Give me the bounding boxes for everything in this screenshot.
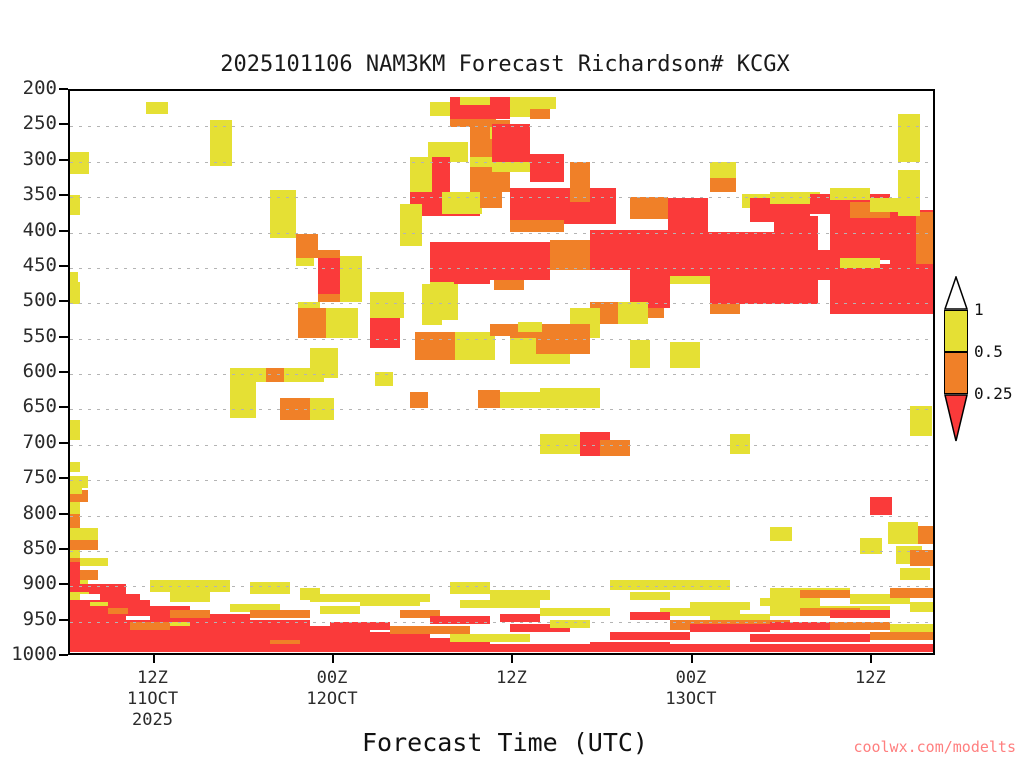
heatmap-cell [430, 102, 450, 116]
heatmap-cell [80, 558, 108, 566]
y-axis-tick-label: 350 [0, 183, 57, 205]
heatmap-cell [510, 338, 536, 360]
colorbar-tick-label: 0.5 [974, 342, 1003, 361]
y-axis-tick-label: 500 [0, 289, 57, 311]
x-axis-tick-label: 12Z 11OCT 2025 [108, 668, 198, 731]
colorbar-tick-label: 0.25 [974, 384, 1013, 403]
heatmap-cell [415, 332, 455, 360]
heatmap-cell [370, 318, 400, 348]
heatmap-cell [918, 526, 935, 544]
watermark-link[interactable]: coolwx.com/modelts [853, 738, 1016, 756]
heatmap-cell [270, 632, 350, 640]
heatmap-cell [310, 348, 338, 378]
heatmap-cell [898, 114, 920, 162]
heatmap-cell [370, 292, 404, 318]
heatmap-cell [570, 162, 590, 202]
y-axis-tick [59, 300, 68, 302]
colorbar-tick-label: 1 [974, 300, 984, 319]
y-axis-tick [59, 88, 68, 90]
heatmap-cell [860, 538, 882, 554]
heatmap-cell [890, 212, 916, 268]
heatmap-cell [590, 230, 670, 270]
heatmap-cell [710, 178, 736, 192]
y-axis-tick-label: 550 [0, 325, 57, 347]
heatmap-cell [70, 195, 80, 215]
heatmap-cell [70, 272, 78, 292]
heatmap-cell [510, 97, 530, 117]
y-axis-tick-label: 450 [0, 254, 57, 276]
heatmap-cell [800, 590, 850, 598]
heatmap-cell [70, 462, 80, 472]
heatmap-cell [320, 606, 360, 614]
heatmap-cell [910, 602, 935, 612]
x-axis-ticks [68, 655, 935, 665]
heatmap-cell [916, 212, 935, 266]
heatmap-cell [318, 294, 340, 302]
y-axis-tick [59, 123, 68, 125]
colorbar-labels: 10.50.25 [944, 310, 1024, 470]
heatmap-cells [70, 91, 933, 653]
y-axis-tick [59, 194, 68, 196]
heatmap-cell [470, 157, 492, 167]
heatmap-cell [630, 592, 670, 600]
y-axis-tick-label: 1000 [0, 643, 57, 665]
heatmap-cell [270, 190, 296, 238]
heatmap-cell [432, 157, 450, 193]
heatmap-cell [590, 642, 670, 648]
heatmap-cell [890, 588, 935, 598]
heatmap-cell [455, 332, 495, 360]
y-axis-tick-label: 750 [0, 466, 57, 488]
heatmap-cell [888, 522, 918, 544]
y-axis-tick [59, 406, 68, 408]
heatmap-cell [150, 580, 230, 592]
y-axis-tick [59, 371, 68, 373]
y-axis-tick-label: 900 [0, 572, 57, 594]
heatmap-cell [490, 324, 518, 336]
heatmap-cell [770, 527, 792, 541]
heatmap-cell [710, 304, 740, 314]
heatmap-cell [390, 626, 470, 634]
x-axis-tick [153, 655, 155, 663]
y-axis-ticks [59, 89, 69, 655]
y-axis-tick-label: 400 [0, 219, 57, 241]
heatmap-cell [630, 612, 670, 620]
heatmap-cell [70, 480, 82, 494]
heatmap-cell [670, 276, 714, 284]
y-axis-tick [59, 513, 68, 515]
heatmap-cell [230, 382, 256, 418]
y-axis-tick [59, 442, 68, 444]
heatmap-cell [70, 540, 98, 550]
heatmap-cell [296, 258, 314, 266]
heatmap-cell [550, 620, 590, 628]
y-axis-tick [59, 583, 68, 585]
heatmap-cell [146, 102, 168, 114]
heatmap-cell [298, 308, 326, 338]
heatmap-cell [530, 154, 564, 182]
heatmap-cell [630, 197, 668, 219]
heatmap-cell [750, 634, 870, 642]
heatmap-cell [530, 109, 550, 119]
y-axis-tick-label: 850 [0, 537, 57, 559]
y-axis-tick [59, 230, 68, 232]
heatmap-cell [690, 602, 750, 610]
heatmap-cell [80, 570, 98, 580]
heatmap-cell [900, 568, 930, 580]
y-axis-tick-label: 950 [0, 608, 57, 630]
x-axis-tick-label: 00Z 13OCT [646, 668, 736, 710]
y-axis-tick [59, 336, 68, 338]
heatmap-cell [70, 514, 80, 528]
heatmap-cell [450, 634, 530, 642]
heatmap-cell [850, 188, 870, 200]
heatmap-cell [492, 124, 530, 162]
colorbar-top-arrow [944, 276, 968, 310]
heatmap-cell [670, 342, 700, 368]
heatmap-cell [870, 632, 935, 640]
heatmap-cell [830, 622, 890, 630]
heatmap-cell [430, 616, 490, 624]
heatmap-cell [170, 610, 210, 618]
y-axis-tick-label: 800 [0, 502, 57, 524]
y-axis-tick [59, 619, 68, 621]
y-axis-tick-label: 650 [0, 395, 57, 417]
heatmap-cell [898, 170, 920, 216]
heatmap-cell [410, 157, 432, 197]
heatmap-cell [375, 372, 393, 386]
heatmap-cell [840, 258, 880, 268]
y-axis-tick [59, 548, 68, 550]
y-axis-tick [59, 477, 68, 479]
heatmap-cell [170, 592, 210, 602]
heatmap-cell [296, 234, 318, 258]
heatmap-cell [494, 280, 524, 290]
y-axis-tick [59, 654, 68, 656]
x-axis-tick [511, 655, 513, 663]
x-axis-tick [870, 655, 872, 663]
heatmap-cell [280, 398, 310, 420]
heatmap-cell [774, 216, 818, 250]
heatmap-cell [618, 302, 648, 324]
y-axis-tick-label: 700 [0, 431, 57, 453]
heatmap-cell [460, 97, 490, 105]
heatmap-cell [70, 644, 935, 652]
x-axis-tick-label: 00Z 12OCT [287, 668, 377, 710]
heatmap-cell [210, 624, 270, 632]
heatmap-cell [470, 242, 550, 280]
heatmap-cell [480, 188, 502, 208]
heatmap-cell [610, 580, 730, 590]
heatmap-cell [478, 390, 500, 408]
heatmap-cell [630, 340, 650, 368]
heatmap-cell [690, 624, 770, 632]
y-axis-tick-label: 600 [0, 360, 57, 382]
heatmap-cell [70, 528, 98, 540]
heatmap-cell [330, 622, 390, 630]
heatmap-cell [500, 392, 540, 408]
x-axis-tick [332, 655, 334, 663]
heatmap-cell [710, 264, 770, 304]
heatmap-cell [600, 440, 630, 456]
heatmap-cell [500, 614, 540, 622]
heatmap-cell [70, 502, 80, 514]
heatmap-cell [410, 392, 428, 408]
heatmap-cell [518, 322, 542, 332]
heatmap-cell [210, 120, 232, 166]
heatmap-cell [540, 608, 600, 616]
heatmap-cell [442, 192, 482, 214]
heatmap-cell [460, 600, 540, 608]
heatmap-cell [266, 368, 284, 382]
heatmap-cell [550, 240, 590, 270]
heatmap-cell [490, 590, 550, 600]
heatmap-cell [870, 497, 892, 515]
heatmap-cell [340, 256, 362, 302]
heatmap-cell [730, 434, 750, 454]
heatmap-cell [668, 198, 708, 232]
x-axis-tick [691, 655, 693, 663]
heatmap-cell [540, 388, 600, 408]
heatmap-cell [400, 204, 422, 246]
heatmap-cell [250, 582, 290, 594]
heatmap-cell [530, 97, 556, 109]
heatmap-cell [830, 610, 890, 618]
heatmap-cell [510, 220, 564, 232]
x-axis-tick-label: 12Z [466, 668, 556, 689]
heatmap-cell [422, 284, 458, 320]
heatmap-plot-area [68, 89, 935, 655]
heatmap-cell [318, 250, 340, 258]
heatmap-cell [130, 630, 190, 638]
heatmap-cell [910, 550, 935, 566]
heatmap-cell [326, 308, 358, 338]
heatmap-cell [70, 152, 89, 174]
y-axis-tick [59, 159, 68, 161]
heatmap-cell [760, 598, 820, 606]
heatmap-cell [310, 398, 334, 420]
heatmap-cell [610, 632, 690, 640]
heatmap-cell [70, 420, 80, 440]
heatmap-cell [492, 162, 534, 172]
heatmap-cell [890, 624, 935, 632]
heatmap-cell [130, 622, 170, 630]
heatmap-cell [250, 610, 310, 618]
y-axis-tick-label: 200 [0, 77, 57, 99]
heatmap-cell [770, 268, 818, 304]
y-axis-tick-label: 250 [0, 112, 57, 134]
y-axis-tick [59, 265, 68, 267]
heatmap-cell [450, 582, 490, 594]
heatmap-cell [910, 406, 932, 436]
heatmap-cell [510, 188, 570, 220]
heatmap-cell [360, 598, 420, 606]
heatmap-cell [710, 162, 736, 178]
y-axis-tick-label: 300 [0, 148, 57, 170]
heatmap-cell [830, 264, 935, 314]
x-axis-tick-label: 12Z [825, 668, 915, 689]
heatmap-cell [230, 368, 266, 382]
